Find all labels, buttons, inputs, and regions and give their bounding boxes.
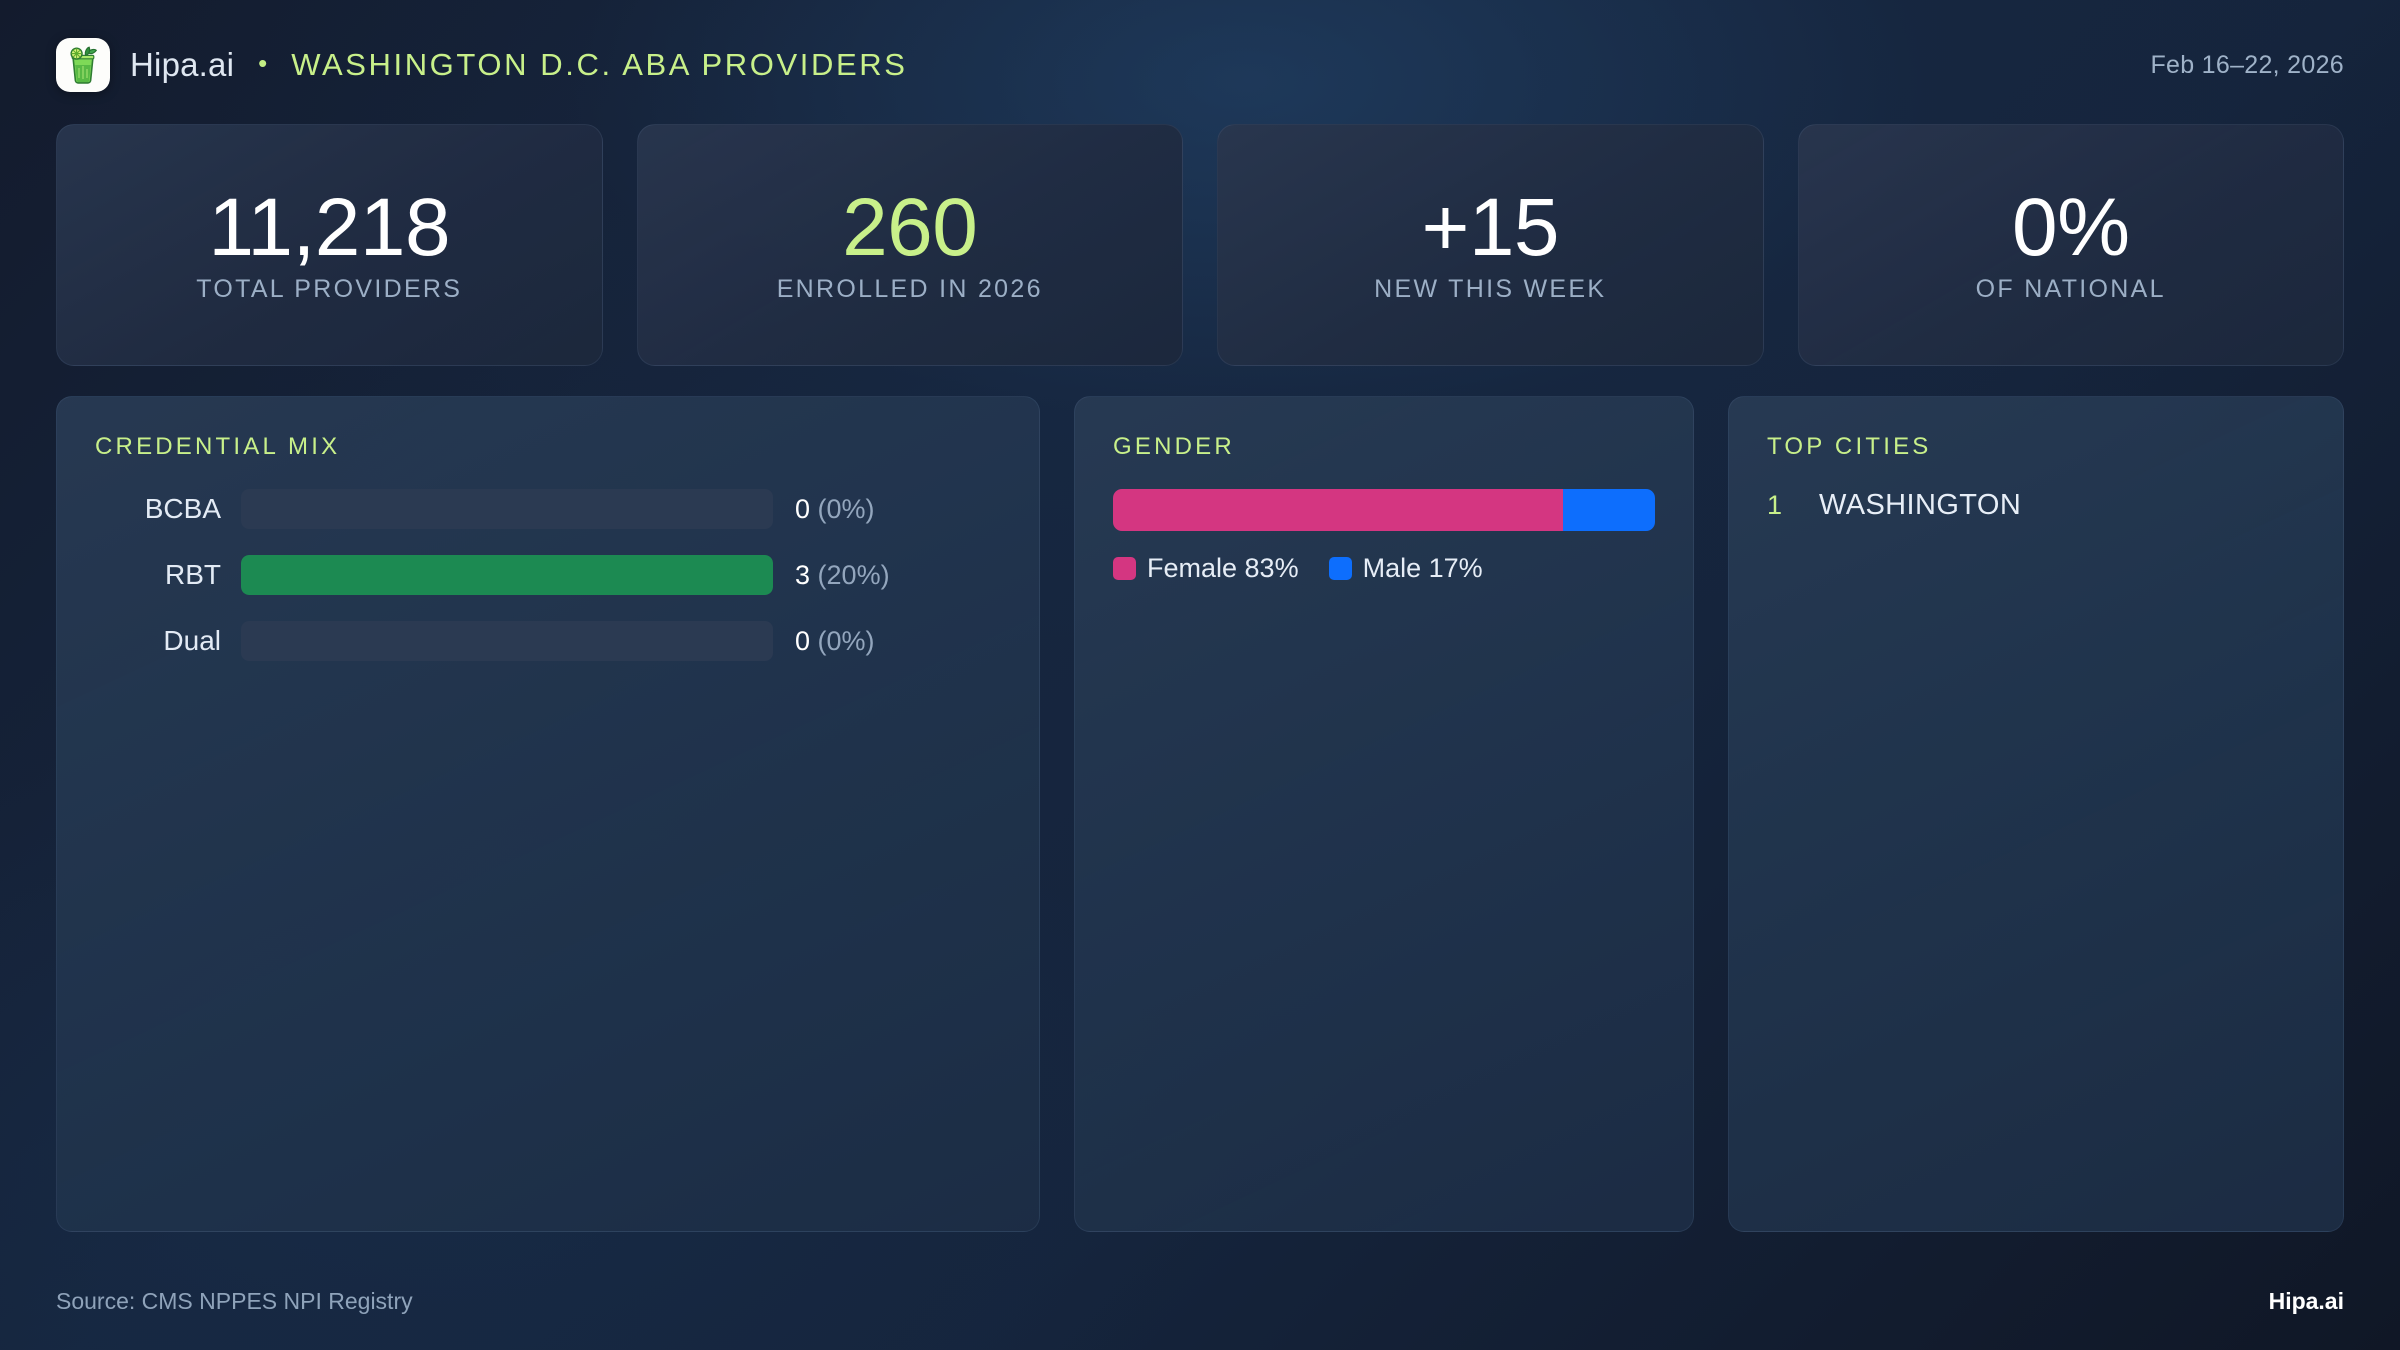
kpi-card-of-national: 0% OF NATIONAL (1798, 124, 2345, 366)
legend-swatch-male (1329, 557, 1352, 580)
footer-bar: Source: CMS NPPES NPI Registry Hipa.ai (56, 1284, 2344, 1318)
dashboard-page: Hipa.ai • WASHINGTON D.C. ABA PROVIDERS … (0, 0, 2400, 1350)
panel-gender: GENDER Female 83% Male 17% (1074, 396, 1694, 1232)
page-title: WASHINGTON D.C. ABA PROVIDERS (291, 47, 907, 83)
gender-stacked-bar (1113, 489, 1655, 531)
kpi-label: ENROLLED IN 2026 (777, 275, 1043, 304)
kpi-card-new-this-week: +15 NEW THIS WEEK (1217, 124, 1764, 366)
credential-label: BCBA (95, 493, 241, 525)
legend-item-male: Male 17% (1329, 553, 1483, 584)
panel-title-top-cities: TOP CITIES (1767, 433, 2305, 461)
credential-row-dual: Dual 0 (0%) (95, 621, 1001, 661)
footer-brand-label: Hipa.ai (2269, 1288, 2344, 1315)
credential-label: Dual (95, 625, 241, 657)
city-name: WASHINGTON (1819, 489, 2021, 522)
legend-label-male: Male 17% (1363, 553, 1483, 584)
footer-source-label: Source: CMS NPPES NPI Registry (56, 1288, 413, 1315)
credential-row-rbt: RBT 3 (20%) (95, 555, 1001, 595)
panel-top-cities: TOP CITIES 1 WASHINGTON (1728, 396, 2344, 1232)
kpi-value: 0% (2012, 186, 2130, 270)
list-item: 1 WASHINGTON (1767, 489, 2305, 522)
header-separator-dot: • (258, 50, 267, 80)
legend-item-female: Female 83% (1113, 553, 1299, 584)
kpi-value: 260 (842, 186, 977, 270)
credential-label: RBT (95, 559, 241, 591)
kpi-card-total-providers: 11,218 TOTAL PROVIDERS (56, 124, 603, 366)
credential-value: 0 (0%) (773, 626, 875, 657)
credential-value: 3 (20%) (773, 560, 890, 591)
header-bar: Hipa.ai • WASHINGTON D.C. ABA PROVIDERS … (56, 34, 2344, 96)
mojito-glass-icon (56, 38, 110, 92)
panel-credential-mix: CREDENTIAL MIX BCBA 0 (0%) RBT (56, 396, 1040, 1232)
gender-segment-male (1563, 489, 1655, 531)
credential-value: 0 (0%) (773, 494, 875, 525)
date-range-label: Feb 16–22, 2026 (2150, 51, 2344, 80)
panel-title-credential-mix: CREDENTIAL MIX (95, 433, 1001, 461)
credential-bar-track (241, 489, 773, 529)
kpi-card-enrolled-2026: 260 ENROLLED IN 2026 (637, 124, 1184, 366)
brand-group: Hipa.ai • WASHINGTON D.C. ABA PROVIDERS (56, 38, 908, 92)
credential-bar-fill (241, 555, 773, 595)
panels-row: CREDENTIAL MIX BCBA 0 (0%) RBT (56, 396, 2344, 1232)
gender-segment-female (1113, 489, 1563, 531)
kpi-value: +15 (1421, 186, 1559, 270)
credential-percent: (20%) (818, 560, 890, 590)
credential-row-bcba: BCBA 0 (0%) (95, 489, 1001, 529)
credential-bar-track (241, 621, 773, 661)
kpi-label: NEW THIS WEEK (1374, 275, 1606, 304)
brand-name: Hipa.ai (130, 46, 234, 84)
city-rank: 1 (1767, 490, 1819, 521)
credential-count: 0 (795, 494, 810, 524)
credential-count: 0 (795, 626, 810, 656)
kpi-label: OF NATIONAL (1976, 275, 2166, 304)
kpi-row: 11,218 TOTAL PROVIDERS 260 ENROLLED IN 2… (56, 124, 2344, 366)
legend-label-female: Female 83% (1147, 553, 1299, 584)
kpi-label: TOTAL PROVIDERS (196, 275, 462, 304)
legend-swatch-female (1113, 557, 1136, 580)
gender-legend: Female 83% Male 17% (1113, 553, 1655, 584)
credential-bar-list: BCBA 0 (0%) RBT 3 (2 (95, 489, 1001, 661)
credential-percent: (0%) (818, 626, 875, 656)
kpi-value: 11,218 (208, 186, 450, 270)
city-list: 1 WASHINGTON (1767, 489, 2305, 522)
credential-percent: (0%) (818, 494, 875, 524)
credential-bar-track (241, 555, 773, 595)
panel-title-gender: GENDER (1113, 433, 1655, 461)
credential-count: 3 (795, 560, 810, 590)
